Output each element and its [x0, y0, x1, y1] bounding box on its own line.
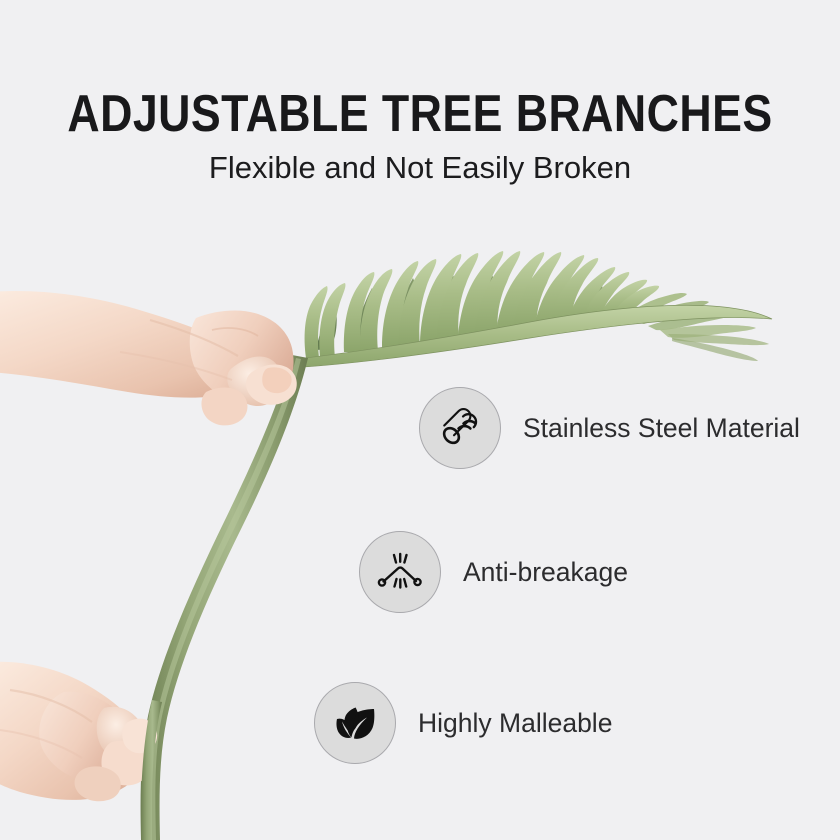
- product-feature-image: ADJUSTABLE TREE BRANCHES Flexible and No…: [0, 0, 840, 840]
- feature-label: Anti-breakage: [463, 557, 628, 587]
- feature-item-highly-malleable: Highly Malleable: [314, 682, 612, 764]
- steel-pipe-icon: [437, 405, 483, 451]
- feature-icon-badge: [359, 531, 441, 613]
- feature-icon-badge: [314, 682, 396, 764]
- leaves-icon: [333, 703, 377, 743]
- lower-hand: [0, 662, 157, 802]
- feature-icon-badge: [419, 387, 501, 469]
- page-subtitle: Flexible and Not Easily Broken: [0, 148, 840, 188]
- page-title: ADJUSTABLE TREE BRANCHES: [59, 88, 781, 140]
- feature-label: Highly Malleable: [418, 708, 612, 738]
- feature-label: Stainless Steel Material: [523, 413, 800, 443]
- bent-rod-impact-icon: [376, 551, 424, 593]
- feature-item-anti-breakage: Anti-breakage: [359, 531, 628, 613]
- branch-stem: [141, 355, 308, 840]
- upper-hand: [0, 291, 297, 425]
- feature-item-stainless-steel: Stainless Steel Material: [419, 387, 800, 469]
